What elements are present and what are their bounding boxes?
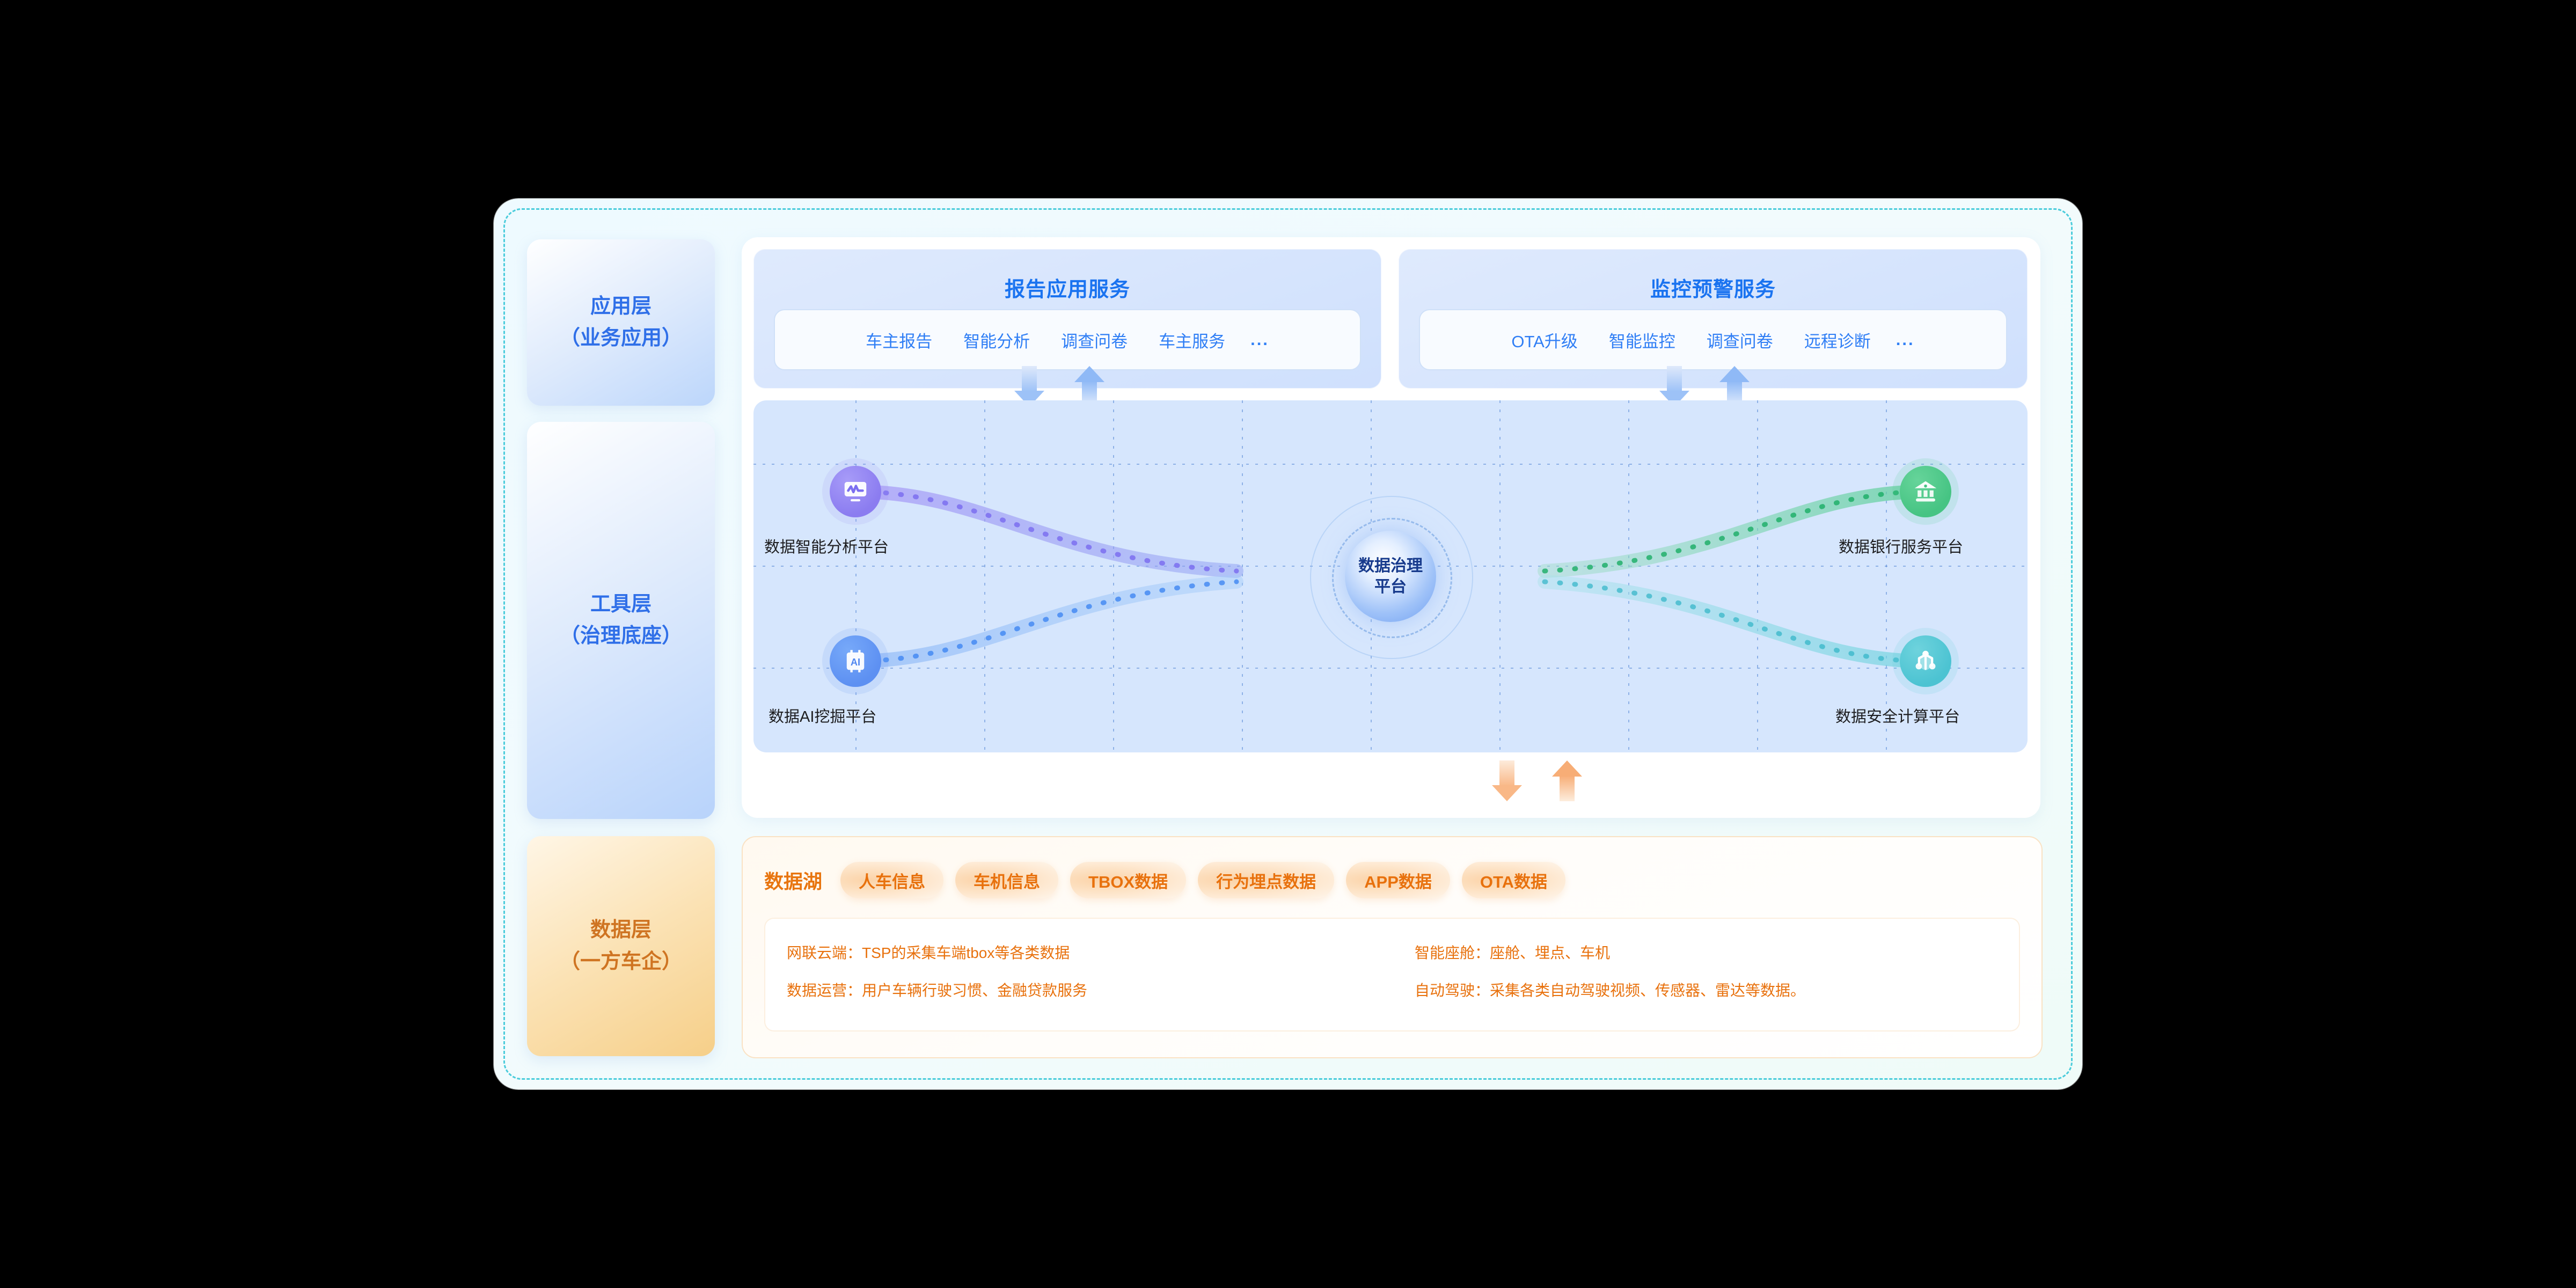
data-lake-title: 数据湖: [764, 866, 822, 894]
data-lake-tag[interactable]: 行为埋点数据: [1198, 862, 1334, 898]
data-lake-tag[interactable]: TBOX数据: [1070, 862, 1186, 898]
service-chip-more[interactable]: ...: [1241, 330, 1285, 349]
data-lake-tag[interactable]: 人车信息: [840, 862, 943, 898]
layer-name: 工具层: [590, 589, 652, 620]
shield-network-icon: [1911, 647, 1940, 676]
node-label: 数据安全计算平台: [1835, 704, 1960, 727]
service-chip-row: 车主报告 智能分析 调查问卷 车主服务 ...: [774, 309, 1361, 370]
data-governance-core[interactable]: 数据治理 平台: [1345, 531, 1436, 622]
detail-line: 网联云端：TSP的采集车端tbox等各类数据: [787, 941, 1392, 963]
data-lake-details: 网联云端：TSP的采集车端tbox等各类数据 数据运营：用户车辆行驶习惯、金融贷…: [764, 918, 2020, 1031]
detail-line: 自动驾驶：采集各类自动驾驶视频、传感器、雷达等数据。: [1415, 979, 2020, 1000]
node-data-bank-platform[interactable]: [1900, 466, 1951, 517]
ai-chip-icon: AI: [841, 647, 869, 675]
upper-panel: 报告应用服务 车主报告 智能分析 调查问卷 车主服务 ... 监控预警服务 OT…: [742, 237, 2040, 818]
monitor-pulse-icon: [841, 477, 870, 506]
service-card-report[interactable]: 报告应用服务 车主报告 智能分析 调查问卷 车主服务 ...: [753, 249, 1381, 389]
layer-sub: （治理底座）: [560, 620, 682, 652]
layer-name: 应用层: [590, 291, 652, 323]
service-chip[interactable]: 智能监控: [1593, 328, 1691, 352]
service-chip[interactable]: 调查问卷: [1045, 328, 1143, 352]
node-label: 数据AI挖掘平台: [769, 704, 876, 727]
arrow-down-icon: [1492, 760, 1522, 801]
layer-label-application: 应用层 （业务应用）: [527, 239, 715, 406]
layer-name: 数据层: [590, 914, 652, 946]
svg-text:AI: AI: [851, 657, 860, 668]
data-lake-panel: 数据湖 人车信息 车机信息 TBOX数据 行为埋点数据 APP数据 OTA数据 …: [742, 836, 2043, 1058]
diagram-stage: 应用层 （业务应用） 工具层 （治理底座） 数据层 （一方车企） 报告应用服务 …: [0, 0, 2576, 1288]
data-lake-tag[interactable]: APP数据: [1346, 862, 1450, 898]
node-data-ai-mining-platform[interactable]: AI: [830, 635, 881, 687]
node-label: 数据智能分析平台: [764, 535, 889, 557]
data-lake-tag[interactable]: OTA数据: [1462, 862, 1565, 898]
layer-sub: （一方车企）: [560, 946, 682, 978]
service-chip-more[interactable]: ...: [1886, 330, 1930, 349]
detail-line: 数据运营：用户车辆行驶习惯、金融贷款服务: [787, 979, 1392, 1000]
node-data-security-platform[interactable]: [1900, 635, 1951, 687]
service-chip[interactable]: OTA升级: [1496, 328, 1593, 352]
core-line-1: 数据治理: [1358, 555, 1423, 576]
service-card-title: 监控预警服务: [1399, 273, 2028, 302]
bank-icon: [1911, 477, 1940, 506]
detail-line: 智能座舱：座舱、埋点、车机: [1415, 941, 2020, 963]
service-card-title: 报告应用服务: [753, 273, 1381, 302]
arrow-up-icon: [1552, 760, 1582, 801]
node-data-analysis-platform[interactable]: [830, 466, 881, 517]
data-lake-header: 数据湖 人车信息 车机信息 TBOX数据 行为埋点数据 APP数据 OTA数据: [764, 861, 2020, 899]
data-lake-tag[interactable]: 车机信息: [955, 862, 1058, 898]
tool-layer-canvas: 数据治理 平台 数据智能分析平台: [753, 400, 2028, 752]
layer-sub: （业务应用）: [560, 323, 682, 354]
service-chip[interactable]: 远程诊断: [1789, 328, 1886, 352]
architecture-board: 应用层 （业务应用） 工具层 （治理底座） 数据层 （一方车企） 报告应用服务 …: [494, 199, 2082, 1089]
details-column-left: 网联云端：TSP的采集车端tbox等各类数据 数据运营：用户车辆行驶习惯、金融贷…: [764, 918, 1392, 1031]
core-line-2: 平台: [1358, 576, 1423, 597]
layer-label-tool: 工具层 （治理底座）: [527, 422, 715, 819]
service-card-monitoring[interactable]: 监控预警服务 OTA升级 智能监控 调查问卷 远程诊断 ...: [1399, 249, 2028, 389]
service-chip-row: OTA升级 智能监控 调查问卷 远程诊断 ...: [1419, 309, 2007, 370]
service-chip[interactable]: 调查问卷: [1691, 328, 1789, 352]
node-label: 数据银行服务平台: [1839, 535, 1963, 557]
service-chip[interactable]: 车主服务: [1143, 328, 1241, 352]
details-column-right: 智能座舱：座舱、埋点、车机 自动驾驶：采集各类自动驾驶视频、传感器、雷达等数据。: [1392, 918, 2020, 1031]
layer-label-data: 数据层 （一方车企）: [527, 836, 715, 1056]
service-chip[interactable]: 车主报告: [850, 328, 948, 352]
service-chip[interactable]: 智能分析: [948, 328, 1045, 352]
